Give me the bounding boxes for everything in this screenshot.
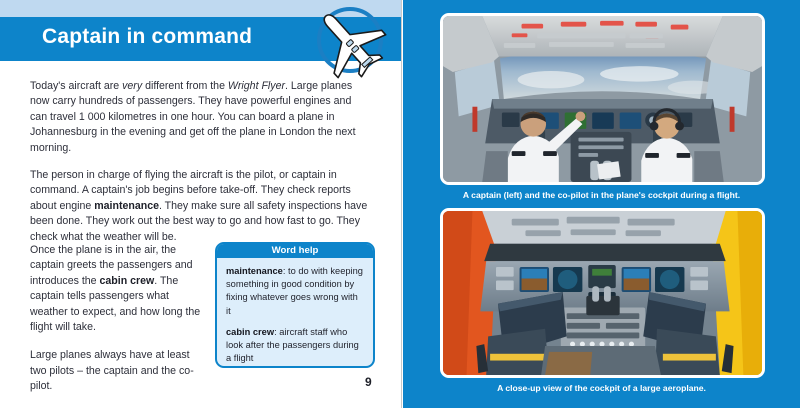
cockpit-in-flight-photo	[440, 13, 765, 185]
airplane-in-circle-icon	[306, 0, 394, 84]
paragraph-2: The person in charge of flying the aircr…	[30, 168, 370, 245]
body-copy-wide: Today's aircraft are very different from…	[30, 79, 370, 257]
word-help-entry: cabin crew: aircraft staff who look afte…	[226, 326, 364, 366]
right-page: A captain (left) and the co-pilot in the…	[403, 0, 800, 408]
photo-caption: A close-up view of the cockpit of a larg…	[413, 383, 790, 393]
cockpit-close-up-photo	[440, 208, 765, 378]
paragraph-3: Once the plane is in the air, the captai…	[30, 243, 207, 335]
page-title: Captain in command	[42, 25, 252, 49]
word-help-box: Word help maintenance: to do with keepin…	[215, 242, 375, 368]
word-help-entry: maintenance: to do with keeping somethin…	[226, 265, 364, 318]
page-number: 9	[365, 375, 372, 389]
word-help-entries: maintenance: to do with keeping somethin…	[217, 258, 373, 365]
left-page: Captain in command Today's aircraft are …	[0, 0, 402, 408]
paragraph-1: Today's aircraft are very different from…	[30, 79, 370, 156]
body-copy-narrow: Once the plane is in the air, the captai…	[30, 243, 207, 408]
paragraph-4: Large planes always have at least two pi…	[30, 348, 207, 394]
book-spread: Captain in command Today's aircraft are …	[0, 0, 800, 408]
photo-caption: A captain (left) and the co-pilot in the…	[413, 190, 790, 200]
word-help-heading: Word help	[217, 244, 373, 258]
